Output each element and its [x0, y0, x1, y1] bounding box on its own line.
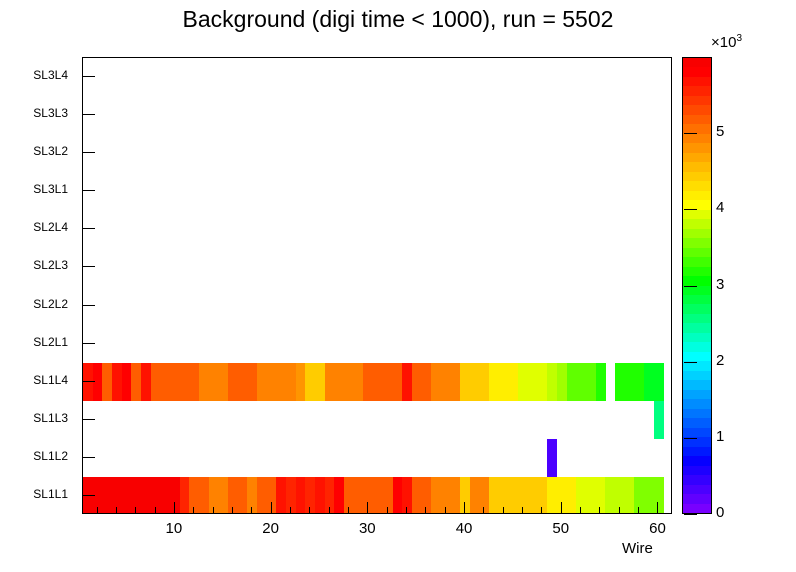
color-scale-band — [683, 304, 711, 314]
heatmap-cell — [547, 363, 557, 401]
x-axis-tick-label: 50 — [531, 520, 591, 537]
heatmap-cell — [112, 363, 122, 401]
color-scale-band — [683, 493, 711, 503]
color-scale-band — [683, 275, 711, 285]
heatmap-cell — [528, 363, 538, 401]
heatmap-cell — [567, 477, 577, 513]
color-scale-band — [683, 143, 711, 153]
heatmap-cell — [422, 363, 432, 401]
heatmap-cell — [257, 363, 267, 401]
heatmap-cell — [460, 363, 470, 401]
heatmap-cell — [102, 363, 112, 401]
color-scale-band — [683, 247, 711, 257]
color-scale-band — [683, 228, 711, 238]
x-axis-tick-label: 60 — [627, 520, 687, 537]
heatmap-cell — [489, 363, 499, 401]
y-axis-label-sl3l2: SL3L2 — [0, 144, 68, 158]
color-scale-band — [683, 238, 711, 248]
color-scale-band — [683, 162, 711, 172]
heatmap-cell — [383, 363, 393, 401]
heatmap-cell — [402, 477, 412, 513]
heatmap-cell — [634, 363, 644, 401]
heatmap-cell — [654, 363, 664, 401]
heatmap-cell — [276, 363, 286, 401]
heatmap-cell — [122, 363, 132, 401]
heatmap-cell — [247, 477, 257, 513]
x-axis-tick-minor — [503, 507, 504, 514]
heatmap-cell — [509, 363, 519, 401]
heatmap-cell — [131, 477, 141, 513]
color-scale-band — [683, 209, 711, 219]
heatmap-cell — [576, 363, 586, 401]
x-axis-tick-minor — [232, 507, 233, 514]
heatmap-cell — [315, 363, 325, 401]
y-axis-label-sl1l2: SL1L2 — [0, 449, 68, 463]
heatmap-cell — [393, 363, 403, 401]
color-scale-tick-label: 2 — [716, 352, 724, 369]
heatmap-cell — [654, 401, 664, 439]
y-axis-label-sl3l3: SL3L3 — [0, 106, 68, 120]
color-scale-tick-label: 3 — [716, 276, 724, 293]
heatmap-cell — [518, 363, 528, 401]
color-scale-band — [683, 332, 711, 342]
y-axis-tick — [82, 190, 95, 191]
heatmap-cell — [180, 363, 190, 401]
y-axis-tick — [82, 76, 95, 77]
x-axis-tick-minor — [387, 507, 388, 514]
color-scale-tick-label: 4 — [716, 199, 724, 216]
heatmap-cell — [354, 363, 364, 401]
heatmap-cell — [557, 363, 567, 401]
heatmap-row-sl2l2 — [83, 287, 671, 325]
heatmap-cell — [547, 439, 557, 477]
color-scale-tick — [684, 286, 697, 287]
heatmap-area — [83, 58, 671, 513]
heatmap-cell — [160, 363, 170, 401]
x-axis-tick-minor — [541, 507, 542, 514]
heatmap-cell — [441, 363, 451, 401]
heatmap-cell — [238, 363, 248, 401]
heatmap-cell — [334, 477, 344, 513]
color-scale-band — [683, 342, 711, 352]
y-axis-label-sl3l4: SL3L4 — [0, 68, 68, 82]
heatmap-cell — [596, 363, 606, 401]
color-scale-band — [683, 105, 711, 115]
x-axis-tick-minor — [116, 507, 117, 514]
chart-title: Background (digi time < 1000), run = 550… — [0, 6, 796, 33]
heatmap-row-sl3l2 — [83, 134, 671, 172]
x-axis-tick-major — [464, 502, 465, 514]
color-scale-band — [683, 465, 711, 475]
heatmap-cell — [451, 363, 461, 401]
x-axis-tick-major — [271, 502, 272, 514]
color-scale-band — [683, 67, 711, 77]
heatmap-cell — [325, 363, 335, 401]
heatmap-cell — [344, 363, 354, 401]
heatmap-cell — [644, 363, 654, 401]
x-axis-tick-minor — [251, 507, 252, 514]
heatmap-cell — [247, 363, 257, 401]
x-axis-tick-minor — [309, 507, 310, 514]
heatmap-cell — [480, 477, 490, 513]
heatmap-cell — [431, 477, 441, 513]
heatmap-cell — [180, 477, 190, 513]
color-scale-band — [683, 114, 711, 124]
heatmap-cell — [470, 363, 480, 401]
heatmap-cell — [286, 363, 296, 401]
x-axis-tick-minor — [193, 507, 194, 514]
heatmap-cell — [644, 477, 654, 513]
x-axis-tick-minor — [213, 507, 214, 514]
heatmap-cell — [112, 477, 122, 513]
heatmap-row-sl2l3 — [83, 248, 671, 286]
color-scale-band — [683, 152, 711, 162]
heatmap-cell — [509, 477, 519, 513]
color-scale-tick — [684, 133, 697, 134]
heatmap-cell — [286, 477, 296, 513]
heatmap-cell — [334, 363, 344, 401]
y-axis-label-sl2l2: SL2L2 — [0, 297, 68, 311]
x-axis-tick-label: 40 — [434, 520, 494, 537]
heatmap-cell — [654, 477, 664, 513]
x-axis-tick-label: 20 — [241, 520, 301, 537]
heatmap-cell — [625, 477, 635, 513]
heatmap-cell — [218, 363, 228, 401]
heatmap-cell — [373, 477, 383, 513]
y-axis-tick — [82, 343, 95, 344]
heatmap-cell — [586, 477, 596, 513]
x-axis-tick-major — [367, 502, 368, 514]
y-axis-tick — [82, 495, 95, 496]
heatmap-cell — [576, 477, 586, 513]
heatmap-cell — [267, 363, 277, 401]
color-scale-tick — [684, 438, 697, 439]
heatmap-cell — [189, 477, 199, 513]
x-axis-tick-minor — [522, 507, 523, 514]
color-scale-band — [683, 266, 711, 276]
exponent-base: ×10 — [711, 34, 736, 51]
heatmap-cell — [480, 363, 490, 401]
color-scale-band — [683, 171, 711, 181]
heatmap-cell — [596, 477, 606, 513]
heatmap-cell — [402, 363, 412, 401]
x-axis-tick-minor — [406, 507, 407, 514]
heatmap-cell — [160, 477, 170, 513]
heatmap-cell — [296, 477, 306, 513]
plot-frame — [82, 57, 672, 514]
heatmap-row-sl3l3 — [83, 96, 671, 134]
y-axis-tick — [82, 266, 95, 267]
heatmap-cell — [209, 363, 219, 401]
y-axis-label-sl2l4: SL2L4 — [0, 220, 68, 234]
heatmap-cell — [528, 477, 538, 513]
color-scale-band — [683, 256, 711, 266]
x-axis-tick-minor — [155, 507, 156, 514]
y-axis-tick — [82, 381, 95, 382]
heatmap-cell — [354, 477, 364, 513]
y-axis-tick — [82, 228, 95, 229]
x-axis-tick-label: 10 — [144, 520, 204, 537]
heatmap-cell — [393, 477, 403, 513]
x-axis-tick-minor — [425, 507, 426, 514]
heatmap-cell — [228, 477, 238, 513]
heatmap-cell — [431, 363, 441, 401]
color-scale-band — [683, 219, 711, 229]
heatmap-cell — [257, 477, 267, 513]
x-axis-tick-minor — [445, 507, 446, 514]
y-axis-label-sl2l1: SL2L1 — [0, 335, 68, 349]
color-scale-band — [683, 380, 711, 390]
heatmap-cell — [238, 477, 248, 513]
heatmap-cell — [296, 363, 306, 401]
heatmap-cell — [615, 363, 625, 401]
heatmap-cell — [586, 363, 596, 401]
x-axis-tick-minor — [290, 507, 291, 514]
y-axis-label-sl1l1: SL1L1 — [0, 487, 68, 501]
heatmap-cell — [363, 477, 373, 513]
x-axis-tick-minor — [580, 507, 581, 514]
heatmap-cell — [315, 477, 325, 513]
heatmap-cell — [170, 363, 180, 401]
x-axis-tick-label: 30 — [337, 520, 397, 537]
color-scale-tick-label: 1 — [716, 428, 724, 445]
heatmap-cell — [412, 363, 422, 401]
heatmap-row-sl2l1 — [83, 325, 671, 363]
color-scale-band — [683, 370, 711, 380]
heatmap-row-sl1l4 — [83, 363, 671, 401]
color-scale-tick-label: 5 — [716, 123, 724, 140]
color-scale-band — [683, 427, 711, 437]
x-axis-tick-minor — [348, 507, 349, 514]
heatmap-row-sl1l3 — [83, 401, 671, 439]
color-scale-band — [683, 484, 711, 494]
heatmap-cell — [422, 477, 432, 513]
color-scale-band — [683, 86, 711, 96]
color-scale-band — [683, 456, 711, 466]
color-scale-band — [683, 181, 711, 191]
x-axis-title: Wire — [622, 540, 653, 557]
color-scale-band — [683, 190, 711, 200]
color-scale-band — [683, 446, 711, 456]
color-scale-band — [683, 503, 711, 513]
heatmap-cell — [141, 477, 151, 513]
color-scale-exponent: ×103 — [711, 33, 742, 51]
heatmap-cell — [170, 477, 180, 513]
heatmap-cell — [344, 477, 354, 513]
heatmap-cell — [305, 477, 315, 513]
x-axis-tick-minor — [599, 507, 600, 514]
heatmap-row-sl1l2 — [83, 439, 671, 477]
heatmap-cell — [102, 477, 112, 513]
x-axis-tick-minor — [619, 507, 620, 514]
heatmap-cell — [218, 477, 228, 513]
heatmap-cell — [567, 363, 577, 401]
heatmap-cell — [373, 363, 383, 401]
heatmap-cell — [451, 477, 461, 513]
color-scale-band — [683, 399, 711, 409]
heatmap-cell — [363, 363, 373, 401]
heatmap-cell — [460, 477, 470, 513]
x-axis-tick-minor — [97, 507, 98, 514]
color-scale-band — [683, 408, 711, 418]
x-axis-tick-major — [174, 502, 175, 514]
x-axis-tick-major — [657, 502, 658, 514]
y-axis-label-sl2l3: SL2L3 — [0, 258, 68, 272]
heatmap-cell — [625, 363, 635, 401]
y-axis-tick — [82, 152, 95, 153]
heatmap-cell — [122, 477, 132, 513]
heatmap-cell — [228, 363, 238, 401]
heatmap-cell — [276, 477, 286, 513]
color-scale-tick-label: 0 — [716, 504, 724, 521]
heatmap-cell — [538, 477, 548, 513]
y-axis-label-sl3l1: SL3L1 — [0, 182, 68, 196]
heatmap-cell — [489, 477, 499, 513]
heatmap-row-sl3l4 — [83, 58, 671, 96]
y-axis-tick — [82, 419, 95, 420]
color-scale-band — [683, 389, 711, 399]
exponent-power: 3 — [736, 33, 742, 44]
x-axis-tick-major — [561, 502, 562, 514]
color-scale-band — [683, 133, 711, 143]
color-scale-band — [683, 95, 711, 105]
heatmap-row-sl1l1 — [83, 477, 671, 513]
heatmap-cell — [605, 477, 615, 513]
heatmap-cell — [547, 477, 557, 513]
heatmap-cell — [199, 477, 209, 513]
heatmap-cell — [199, 363, 209, 401]
color-scale-band — [683, 57, 711, 67]
color-scale-tick — [684, 514, 697, 515]
heatmap-cell — [518, 477, 528, 513]
color-scale-tick — [684, 362, 697, 363]
x-axis-tick-minor — [638, 507, 639, 514]
color-scale-band — [683, 351, 711, 361]
heatmap-cell — [470, 477, 480, 513]
heatmap-cell — [141, 363, 151, 401]
heatmap-cell — [412, 477, 422, 513]
x-axis-tick-minor — [483, 507, 484, 514]
color-scale-band — [683, 418, 711, 428]
heatmap-cell — [189, 363, 199, 401]
y-axis-tick — [82, 305, 95, 306]
y-axis-label-sl1l3: SL1L3 — [0, 411, 68, 425]
heatmap-row-sl2l4 — [83, 210, 671, 248]
heatmap-cell — [634, 477, 644, 513]
heatmap-cell — [538, 363, 548, 401]
y-axis-label-sl1l4: SL1L4 — [0, 373, 68, 387]
y-axis-tick — [82, 457, 95, 458]
color-scale-band — [683, 313, 711, 323]
color-scale-band — [683, 76, 711, 86]
heatmap-cell — [151, 363, 161, 401]
heatmap-row-sl3l1 — [83, 172, 671, 210]
heatmap-cell — [305, 363, 315, 401]
heatmap-cell — [131, 363, 141, 401]
color-scale-band — [683, 474, 711, 484]
color-scale-band — [683, 323, 711, 333]
heatmap-cell — [499, 363, 509, 401]
color-scale-band — [683, 294, 711, 304]
chart-canvas: Background (digi time < 1000), run = 550… — [0, 0, 796, 572]
x-axis-tick-minor — [135, 507, 136, 514]
x-axis-tick-minor — [329, 507, 330, 514]
color-scale-tick — [684, 209, 697, 210]
y-axis-tick — [82, 114, 95, 115]
